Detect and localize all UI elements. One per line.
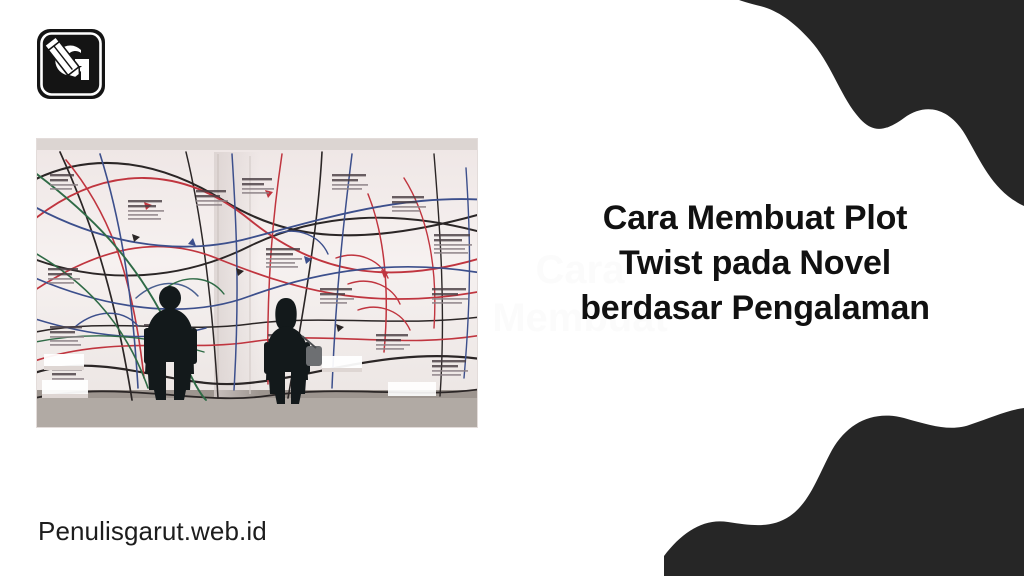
thumbnail-canvas: Cara Membuat Cara Membuat Plot Twist pad…: [0, 0, 1024, 576]
gallery-wall-illustration: [36, 138, 478, 428]
top-right-wave-shape: [664, 0, 1024, 206]
title-line-2: Twist pada Novel: [520, 241, 990, 286]
page-title: Cara Membuat Plot Twist pada Novel berda…: [520, 196, 990, 331]
site-name-footer: Penulisgarut.web.id: [38, 516, 267, 547]
title-line-3: berdasar Pengalaman: [520, 286, 990, 331]
title-line-1: Cara Membuat Plot: [520, 196, 990, 241]
pencil-g-logo-icon: [36, 28, 106, 100]
wall-ledge-far-right: [388, 382, 436, 396]
wall-ledge-left: [44, 354, 84, 370]
wall-ledge-left-lower: [42, 380, 88, 398]
article-photo: [36, 138, 478, 428]
wall-ledge-right: [322, 356, 362, 372]
bottom-right-wave-shape: [664, 366, 1024, 576]
